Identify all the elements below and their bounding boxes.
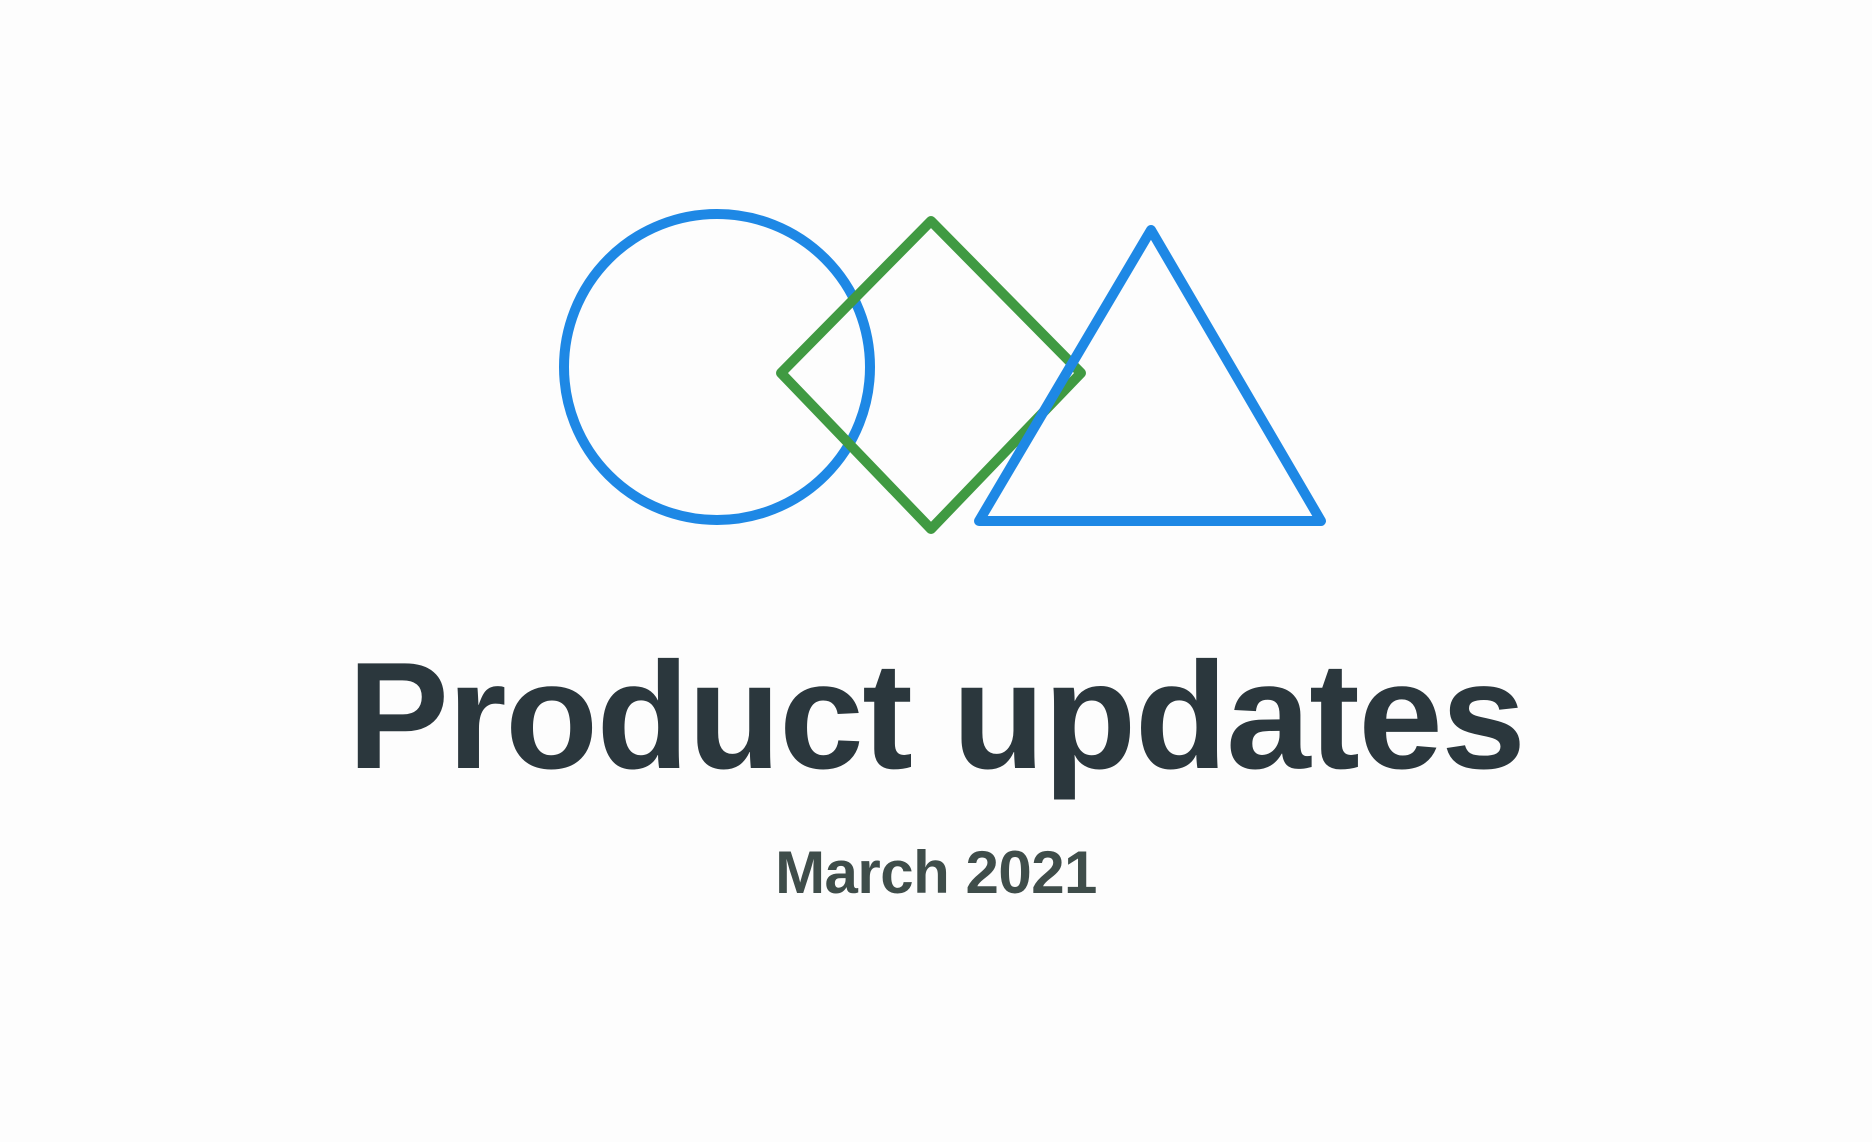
- page-title: Product updates: [0, 636, 1872, 797]
- circle-outline-icon: [564, 214, 870, 520]
- slide-canvas: Product updates March 2021: [0, 0, 1872, 1142]
- triangle-outline-icon: [979, 230, 1321, 521]
- headline-block: Product updates March 2021: [0, 636, 1872, 904]
- diamond-outline-icon: [781, 221, 1081, 529]
- page-subtitle-date: March 2021: [0, 797, 1872, 904]
- three-shapes-logo: [516, 166, 1356, 546]
